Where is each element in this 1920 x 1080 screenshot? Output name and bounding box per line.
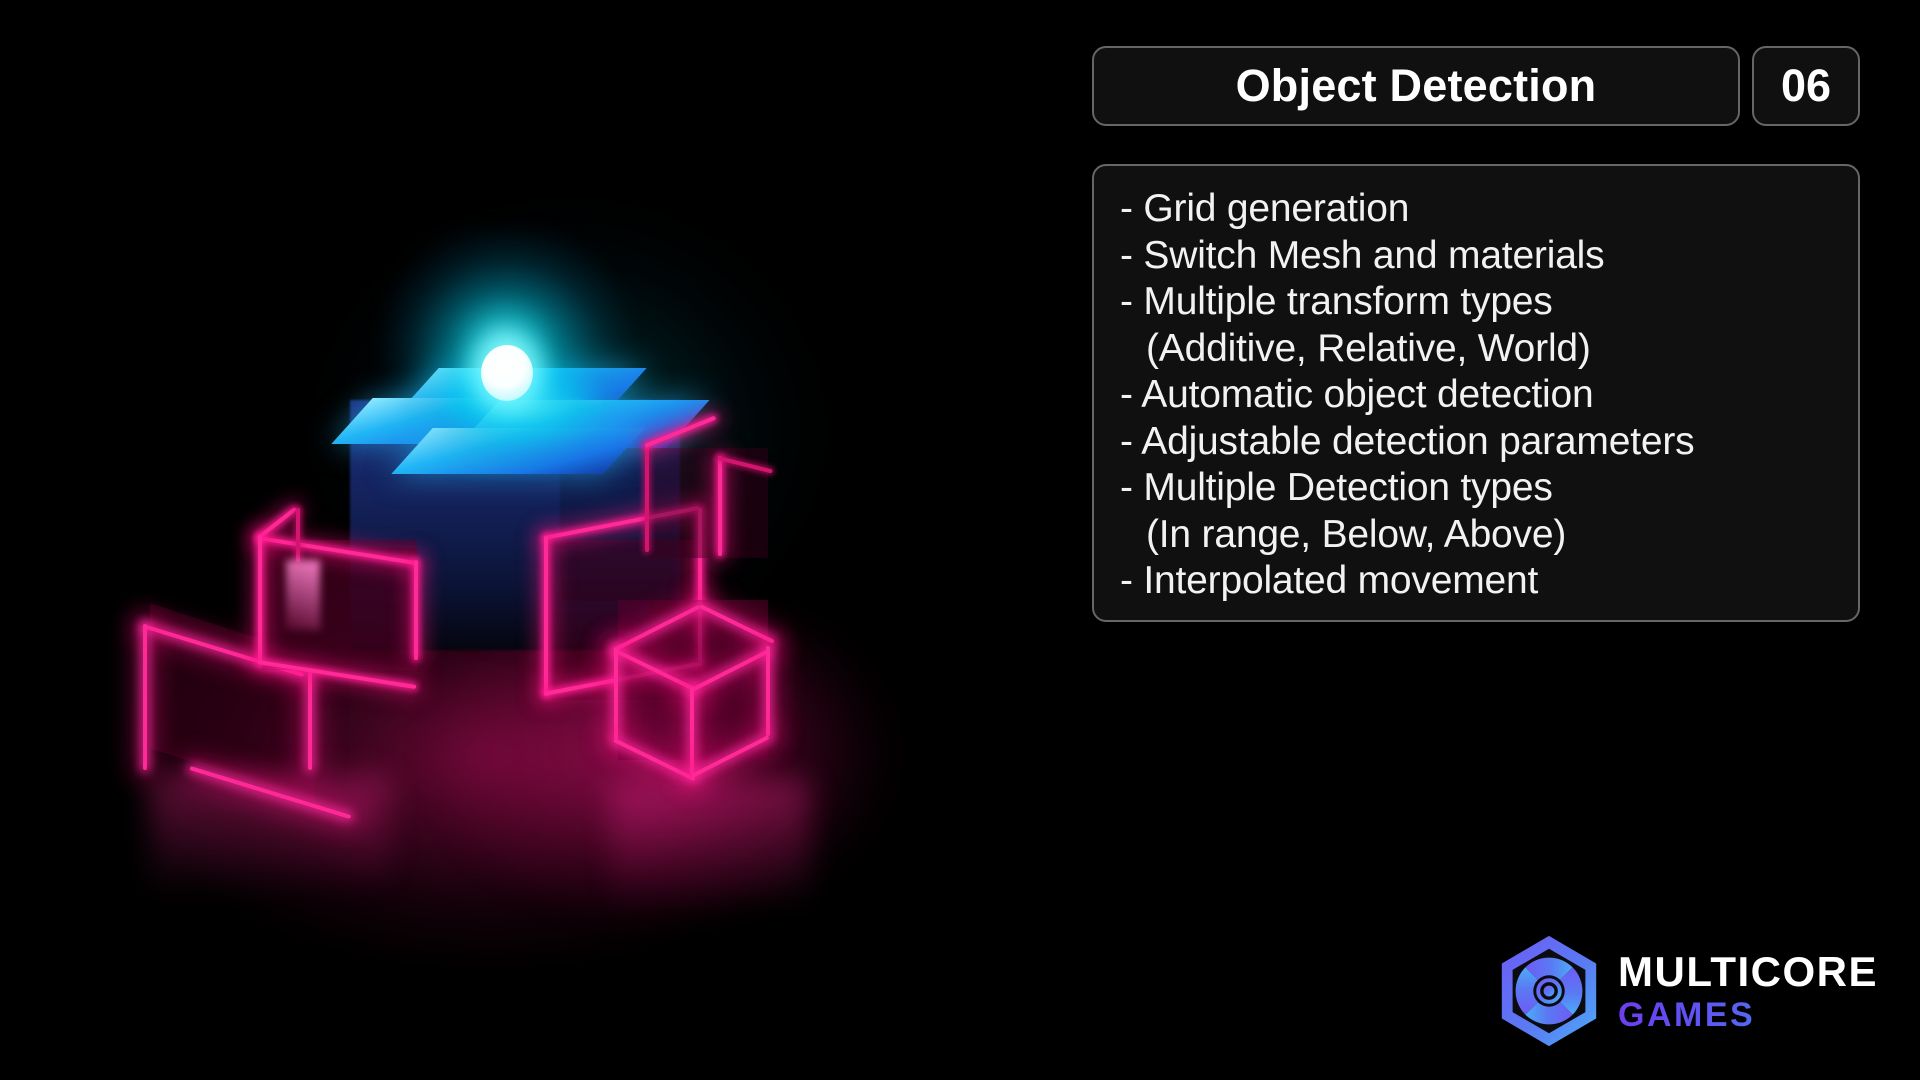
brand-logo: MULTICORE GAMES — [1490, 928, 1890, 1054]
page-title: Object Detection — [1236, 60, 1597, 112]
list-item: - Grid generation — [1120, 186, 1858, 233]
list-item: - Adjustable detection parameters — [1120, 419, 1858, 466]
list-item: - Multiple Detection types — [1120, 465, 1858, 512]
slide-number: 06 — [1781, 60, 1831, 112]
list-item: - Switch Mesh and materials — [1120, 233, 1858, 280]
logo-secondary-text: GAMES — [1618, 998, 1878, 1032]
logo-wordmark: MULTICORE GAMES — [1618, 951, 1878, 1032]
glowing-sphere — [481, 345, 533, 401]
hexagon-target-icon — [1490, 932, 1608, 1050]
list-item-continuation: (In range, Below, Above) — [1120, 512, 1858, 559]
logo-primary-text: MULTICORE — [1618, 951, 1878, 993]
list-item: - Multiple transform types — [1120, 279, 1858, 326]
floor-reflection-right — [610, 780, 810, 910]
slide-root: Object Detection 06 - Grid generation - … — [0, 0, 1920, 1080]
slide-number-panel: 06 — [1752, 46, 1860, 126]
floor-reflection-left — [150, 775, 390, 895]
render-viewport — [0, 0, 1100, 1080]
list-item: - Automatic object detection — [1120, 372, 1858, 419]
slide-title-panel: Object Detection — [1092, 46, 1740, 126]
list-item: - Interpolated movement — [1120, 558, 1858, 605]
feature-list-panel: - Grid generation - Switch Mesh and mate… — [1092, 164, 1860, 622]
list-item-continuation: (Additive, Relative, World) — [1120, 326, 1858, 373]
